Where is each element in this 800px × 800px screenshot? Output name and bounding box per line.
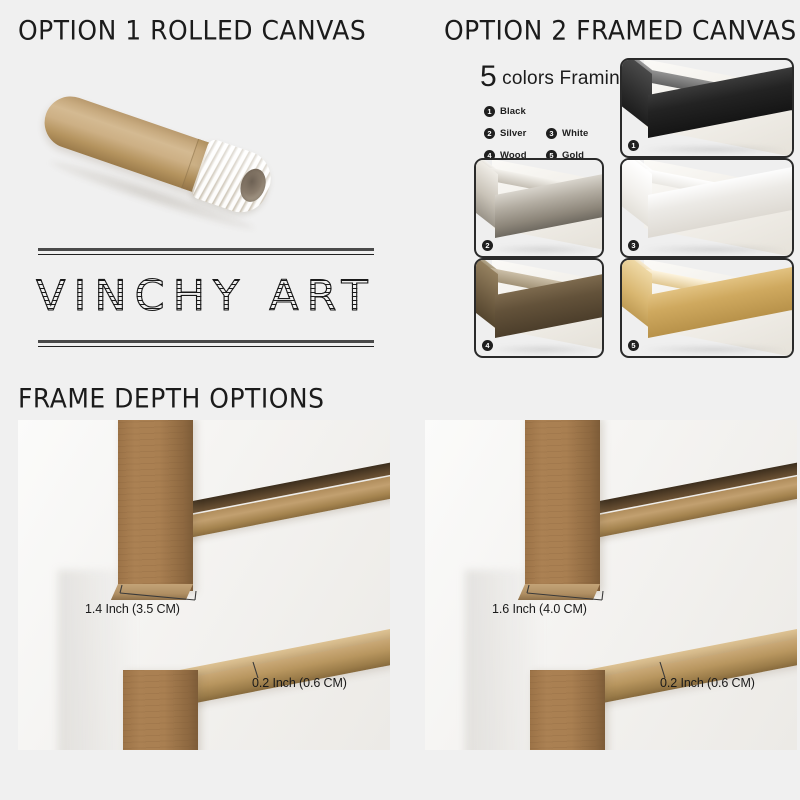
heading-option-1: OPTION 1 ROLLED CANVAS [18,15,366,46]
frame-stile-bevel [111,584,193,600]
frame-swatch-white[interactable]: 3 [620,158,794,258]
legend-label: Silver [500,128,526,139]
legend-number-badge: 2 [484,128,495,139]
framing-title-rest: colors Framing [497,68,631,89]
frame-shadow [491,345,597,355]
brand-logo-block: VINCHY ART [38,248,374,348]
framing-count: 5 [480,60,497,93]
heading-option-2: OPTION 2 FRAMED CANVAS [444,15,797,46]
legend-number-badge: 1 [484,106,495,117]
legend-label: Black [500,106,526,117]
frame-corner-render [474,158,604,258]
frame-corner-render [620,258,794,358]
swatch-number-badge: 2 [482,240,493,251]
logo-rule-top [38,248,374,255]
frame-swatch-wood[interactable]: 4 [474,258,604,358]
legend-item-white: 3 White [546,128,608,139]
frame-corner-render [620,158,794,258]
frame-depth-photo-right [425,420,797,750]
legend-item-black: 1 Black [484,106,546,117]
swatch-number-badge: 4 [482,340,493,351]
framing-title: 5 colors Framing [480,62,631,92]
heading-frame-depth: FRAME DEPTH OPTIONS [18,383,324,414]
legend-item-silver: 2 Silver [484,128,546,139]
frame-stile-bevel [518,584,600,600]
frame-corner-render [620,58,794,158]
frame-swatch-gold[interactable]: 5 [620,258,794,358]
legend-number-badge: 3 [546,128,557,139]
brand-logo-text: VINCHY ART [35,268,378,324]
frame-stile-upper [525,420,600,591]
frame-stile-lower [530,670,605,750]
infographic-page: OPTION 1 ROLLED CANVAS VINCHY ART OPTION… [0,0,800,800]
legend-label: White [562,128,588,139]
logo-rule-thin [38,254,374,255]
legend-row: 1 Black [484,104,632,119]
tube-opening [236,165,270,205]
dimension-label-thickness-right: 0.2 Inch (0.6 CM) [660,676,755,690]
logo-rule-thin [38,346,374,347]
rolled-canvas-tube-illustration [40,58,290,208]
swatch-number-badge: 3 [628,240,639,251]
frame-stile-lower [123,670,198,750]
framing-options-panel: 5 colors Framing 1 Black 2 Silver 3 Whit… [472,56,794,356]
dimension-label-depth-right: 1.6 Inch (4.0 CM) [492,602,587,616]
frame-shadow [642,145,785,155]
dimension-label-thickness-left: 0.2 Inch (0.6 CM) [252,676,347,690]
frame-depth-photo-left [18,420,390,750]
swatch-number-badge: 5 [628,340,639,351]
logo-rule-bottom [38,340,374,347]
frame-shadow [642,245,785,255]
frame-corner-render [474,258,604,358]
legend-row: 2 Silver 3 White [484,126,632,141]
frame-shadow [491,245,597,255]
frame-swatch-black[interactable]: 1 [620,58,794,158]
frame-shadow [642,345,785,355]
frame-stile-upper [118,420,193,591]
swatch-number-badge: 1 [628,140,639,151]
frame-swatch-silver[interactable]: 2 [474,158,604,258]
dimension-label-depth-left: 1.4 Inch (3.5 CM) [85,602,180,616]
